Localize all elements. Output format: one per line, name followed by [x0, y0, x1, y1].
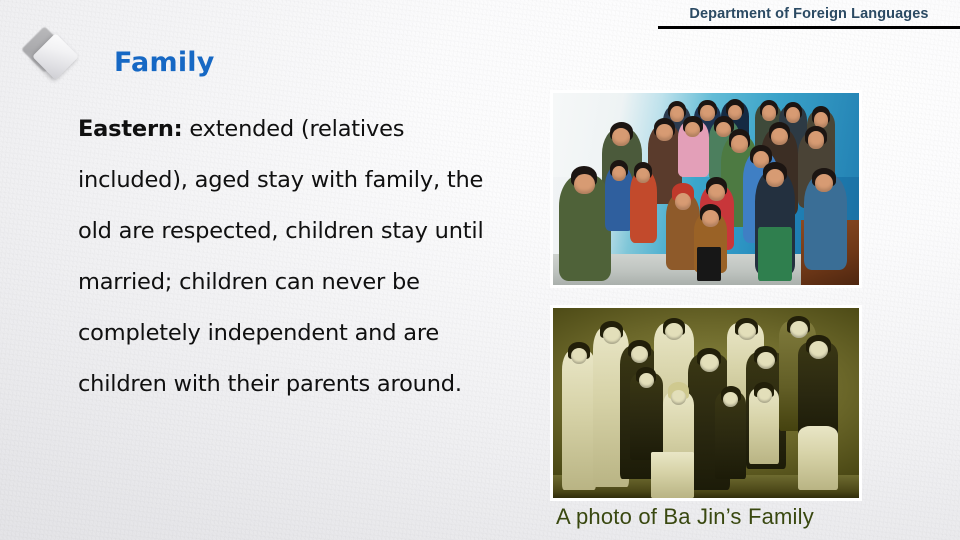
- sepia-person: [562, 350, 596, 491]
- ba-jin-photo-content: [553, 308, 859, 498]
- sepia-child-head: [757, 388, 772, 403]
- sepia-person-head: [738, 323, 756, 340]
- sepia-stool: [651, 452, 694, 498]
- photo-person-head: [731, 135, 748, 152]
- slide-canvas: Department of Foreign Languages Family E…: [0, 0, 960, 540]
- photo-child-head: [675, 193, 692, 210]
- photo-person-head: [766, 169, 784, 187]
- photo-person-head: [656, 124, 673, 141]
- photo-person-head: [670, 106, 684, 121]
- page-title: Family: [114, 46, 215, 80]
- body-rest-text: extended (relatives included), aged stay…: [78, 116, 484, 397]
- photo-person-head: [786, 107, 800, 122]
- photo-person-legs: [758, 227, 792, 281]
- sepia-person-head: [603, 327, 621, 344]
- ba-jin-family-photo: [550, 305, 862, 501]
- sepia-elder-head: [639, 373, 654, 388]
- sepia-person-head: [790, 321, 808, 338]
- sepia-person-skirt: [798, 426, 838, 491]
- slide-header: Department of Foreign Languages: [658, 4, 960, 29]
- modern-family-photo-content: [553, 93, 859, 285]
- photo-person-head: [700, 105, 714, 120]
- photo-person-head: [815, 174, 833, 192]
- photo-child-legs: [697, 247, 721, 282]
- photo-person-head: [612, 128, 630, 146]
- photo-child-head: [612, 166, 626, 181]
- photo-child-head: [708, 184, 725, 201]
- body-lead-label: Eastern:: [78, 116, 182, 142]
- sepia-person-head: [757, 352, 775, 369]
- department-label: Department of Foreign Languages: [658, 4, 960, 24]
- photo-person-head: [771, 128, 788, 145]
- sepia-child-head: [671, 390, 687, 405]
- photo-person-head: [762, 105, 776, 120]
- photo-person-head: [574, 174, 594, 194]
- photo-person-head: [808, 131, 825, 148]
- photo-caption: A photo of Ba Jin’s Family: [556, 504, 814, 530]
- photo-child-head: [702, 210, 719, 227]
- body-paragraph: Eastern: extended (relatives included), …: [78, 104, 508, 410]
- modern-extended-family-photo: [550, 90, 862, 288]
- header-divider: [658, 26, 960, 29]
- sepia-person-head: [700, 354, 719, 372]
- diamond-bullet-icon: [28, 32, 80, 84]
